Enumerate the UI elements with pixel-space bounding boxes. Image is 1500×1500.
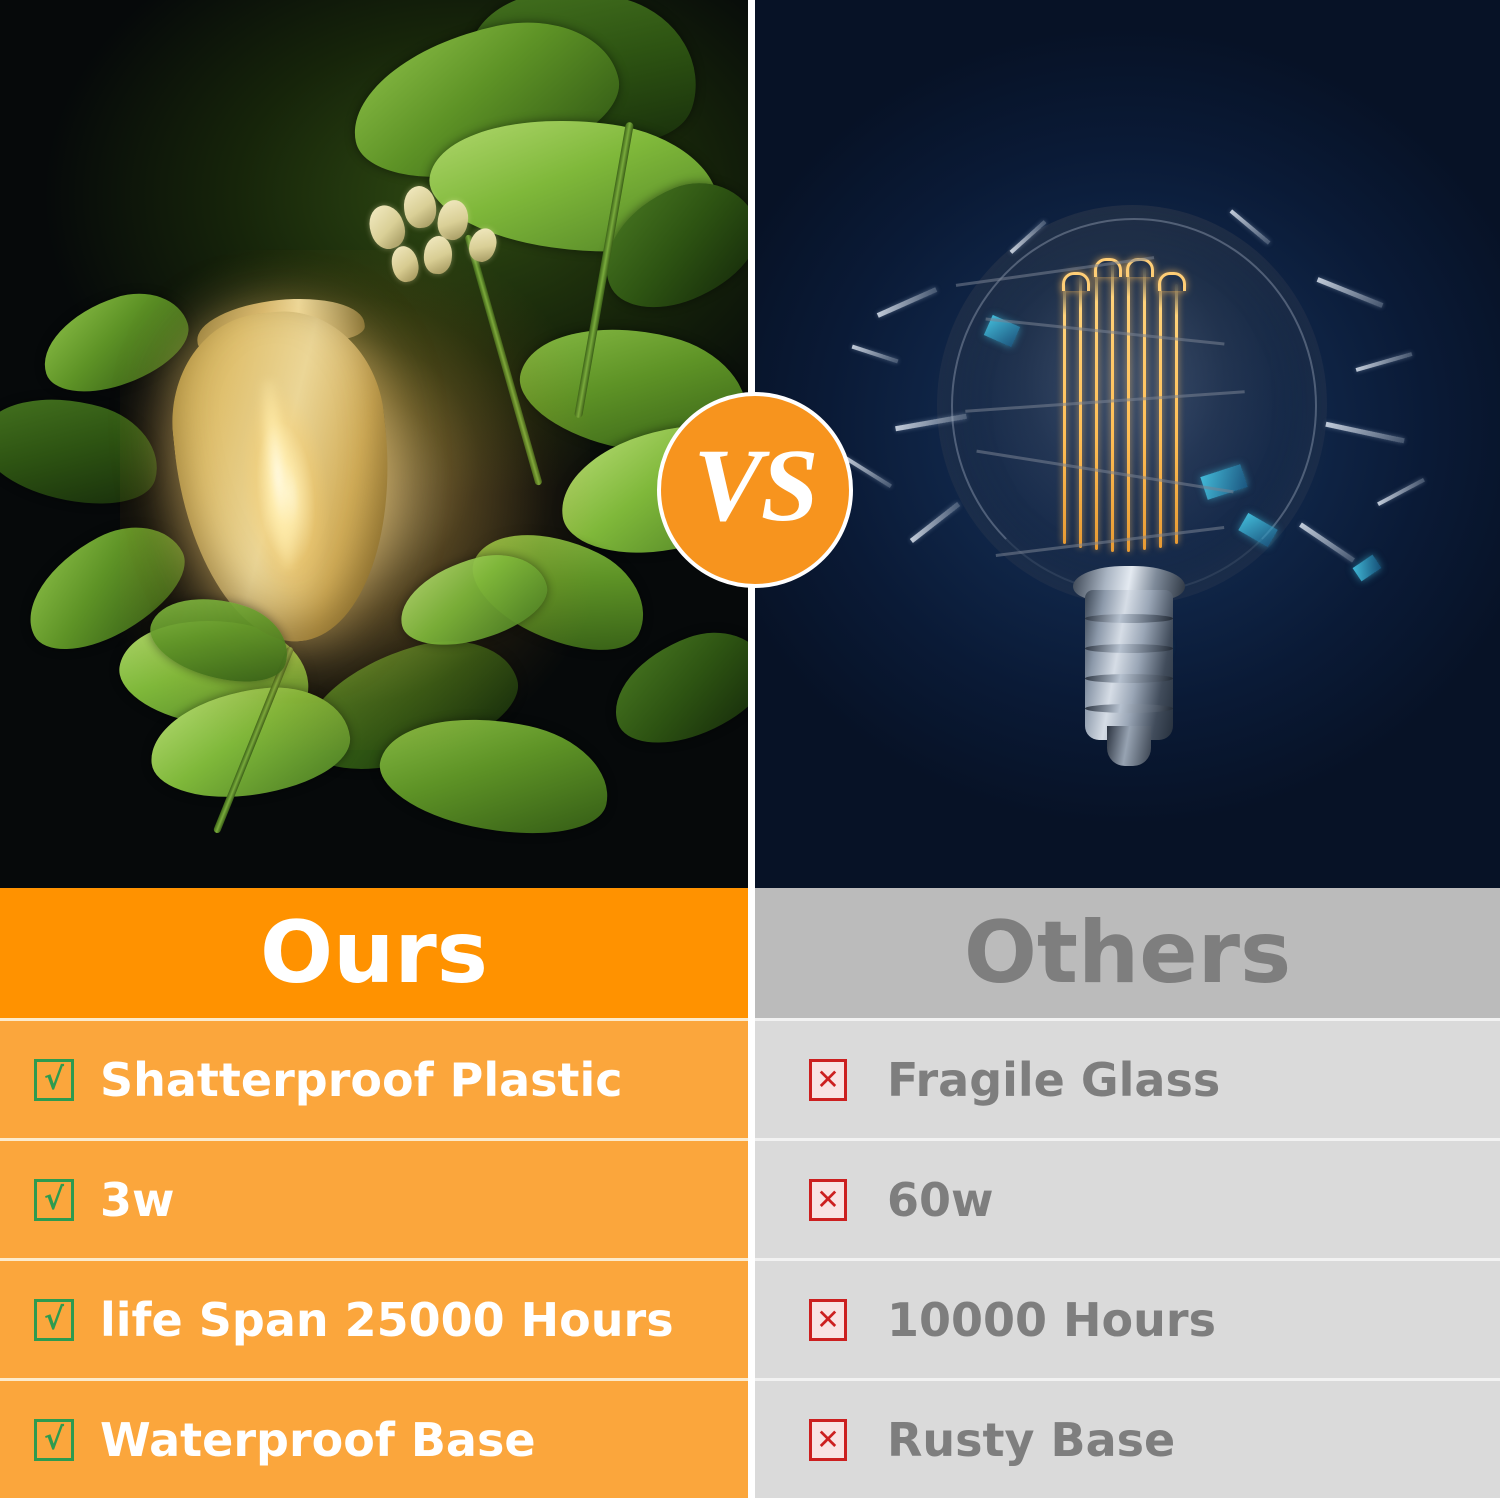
- comparison-infographic: VS Ours √ Shatterproof Plastic √ 3w √ li: [0, 0, 1500, 1500]
- row-label: 3w: [100, 1177, 175, 1223]
- base-ring: [1085, 644, 1173, 653]
- row-label: Fragile Glass: [887, 1057, 1220, 1103]
- others-column-header: Others: [755, 888, 1500, 1018]
- ours-column-header: Ours: [0, 888, 748, 1018]
- table-row: √ Waterproof Base: [0, 1378, 748, 1498]
- table-row: ✕ Fragile Glass: [755, 1018, 1500, 1138]
- row-label: 60w: [887, 1177, 994, 1223]
- check-box-icon: √: [34, 1299, 74, 1341]
- others-column: Others ✕ Fragile Glass ✕ 60w ✕ 10000 Hou…: [755, 888, 1500, 1500]
- ours-column: Ours √ Shatterproof Plastic √ 3w √ life …: [0, 888, 748, 1500]
- row-label: Shatterproof Plastic: [100, 1057, 623, 1103]
- table-row: ✕ 60w: [755, 1138, 1500, 1258]
- vs-badge-label: VS: [693, 434, 816, 538]
- table-row: √ 3w: [0, 1138, 748, 1258]
- table-row: √ Shatterproof Plastic: [0, 1018, 748, 1138]
- vs-badge-icon: VS: [657, 392, 853, 588]
- comparison-table: Ours √ Shatterproof Plastic √ 3w √ life …: [0, 888, 1500, 1500]
- cross-box-icon: ✕: [809, 1419, 847, 1461]
- cross-box-icon: ✕: [809, 1299, 847, 1341]
- table-row: ✕ Rusty Base: [755, 1378, 1500, 1498]
- row-label: life Span 25000 Hours: [100, 1297, 674, 1343]
- check-box-icon: √: [34, 1419, 74, 1461]
- row-label: Rusty Base: [887, 1417, 1175, 1463]
- others-product-photo: [755, 0, 1500, 888]
- photo-comparison-area: VS: [0, 0, 1500, 888]
- ours-header-label: Ours: [260, 910, 488, 996]
- edison-filament-assembly: [1055, 258, 1205, 583]
- table-row: √ life Span 25000 Hours: [0, 1258, 748, 1378]
- others-rows: ✕ Fragile Glass ✕ 60w ✕ 10000 Hours ✕ Ru…: [755, 1018, 1500, 1498]
- base-ring: [1085, 674, 1173, 683]
- table-column-divider: [748, 888, 755, 1500]
- base-tip: [1107, 726, 1151, 766]
- row-label: 10000 Hours: [887, 1297, 1216, 1343]
- ours-product-photo: [0, 0, 748, 888]
- ours-rows: √ Shatterproof Plastic √ 3w √ life Span …: [0, 1018, 748, 1498]
- bulb-screw-base: [1085, 590, 1173, 740]
- base-ring: [1085, 704, 1173, 713]
- others-header-label: Others: [964, 910, 1291, 996]
- base-ring: [1085, 614, 1173, 623]
- check-box-icon: √: [34, 1059, 74, 1101]
- cross-box-icon: ✕: [809, 1179, 847, 1221]
- table-row: ✕ 10000 Hours: [755, 1258, 1500, 1378]
- cross-box-icon: ✕: [809, 1059, 847, 1101]
- row-label: Waterproof Base: [100, 1417, 536, 1463]
- check-box-icon: √: [34, 1179, 74, 1221]
